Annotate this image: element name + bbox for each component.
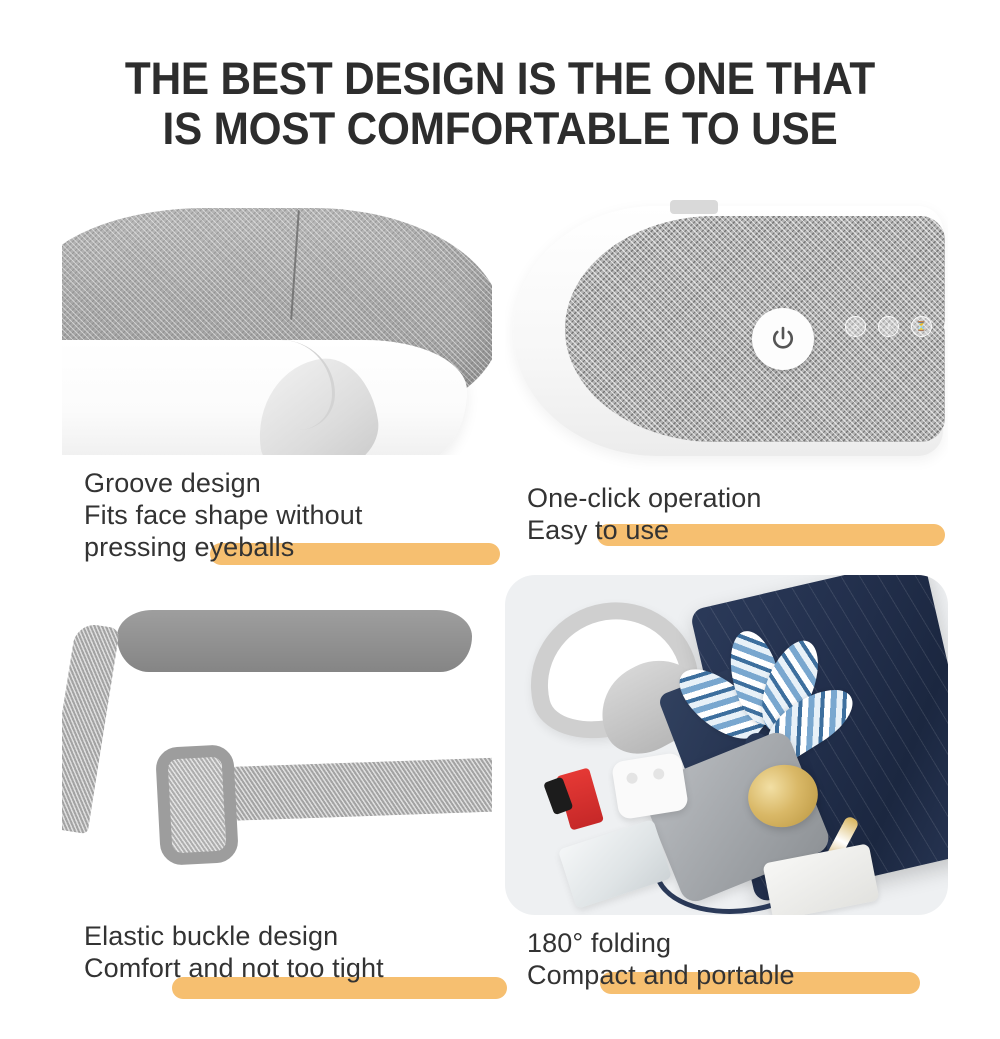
red-nail-polish bbox=[556, 767, 604, 830]
elastic-strap-left bbox=[62, 622, 120, 834]
mode-icon-3: ⏳ bbox=[911, 316, 932, 337]
massager-arm bbox=[117, 610, 472, 672]
caption-180-folding: 180° folding Compact and portable bbox=[505, 927, 948, 991]
caption-line: One-click operation bbox=[527, 482, 948, 514]
caption-line: Easy to use bbox=[527, 514, 948, 546]
power-button[interactable] bbox=[752, 308, 814, 370]
infographic-page: THE BEST DESIGN IS THE ONE THAT IS MOST … bbox=[0, 0, 1000, 1039]
caption-line: Groove design bbox=[84, 467, 492, 499]
caption-groove-design: Groove design Fits face shape without pr… bbox=[62, 467, 492, 563]
feature-one-click-operation: ☼ ♪ ⏳ ⏻ One-click operation Easy to use bbox=[505, 190, 948, 570]
product-photo-groove-design bbox=[62, 190, 492, 455]
earbuds-case bbox=[611, 752, 689, 820]
power-icon bbox=[768, 324, 798, 354]
product-photo-power-button: ☼ ♪ ⏳ ⏻ bbox=[505, 190, 948, 470]
mode-indicator-row: ☼ ♪ ⏳ ⏻ bbox=[845, 316, 948, 337]
caption-elastic-buckle: Elastic buckle design Comfort and not to… bbox=[62, 920, 492, 984]
feature-elastic-buckle: Elastic buckle design Comfort and not to… bbox=[62, 588, 492, 1008]
mode-icon-1: ☼ bbox=[845, 316, 866, 337]
caption-one-click-operation: One-click operation Easy to use bbox=[505, 482, 948, 546]
mode-icon-2: ♪ bbox=[878, 316, 899, 337]
caption-line: pressing eyeballs bbox=[84, 531, 492, 563]
caption-line: Compact and portable bbox=[527, 959, 948, 991]
product-photo-flatlay bbox=[505, 575, 948, 915]
product-photo-elastic-strap bbox=[62, 588, 492, 908]
page-title: THE BEST DESIGN IS THE ONE THAT IS MOST … bbox=[30, 54, 970, 154]
mode-icon-4: ⏻ bbox=[944, 316, 948, 337]
feature-groove-design: Groove design Fits face shape without pr… bbox=[62, 190, 492, 570]
caption-line: Comfort and not too tight bbox=[84, 952, 492, 984]
page-title-line-2: IS MOST COMFORTABLE TO USE bbox=[30, 104, 970, 154]
feature-grid: Groove design Fits face shape without pr… bbox=[0, 190, 1000, 1039]
page-title-line-1: THE BEST DESIGN IS THE ONE THAT bbox=[30, 54, 970, 104]
strap-buckle bbox=[155, 744, 239, 866]
caption-line: Fits face shape without bbox=[84, 499, 492, 531]
groove-contour-line bbox=[212, 340, 335, 430]
power-bank bbox=[558, 819, 672, 909]
caption-line: 180° folding bbox=[527, 927, 948, 959]
caption-line: Elastic buckle design bbox=[84, 920, 492, 952]
massager-hinge-tab bbox=[670, 200, 718, 214]
feature-180-folding: 180° folding Compact and portable bbox=[505, 575, 948, 1005]
